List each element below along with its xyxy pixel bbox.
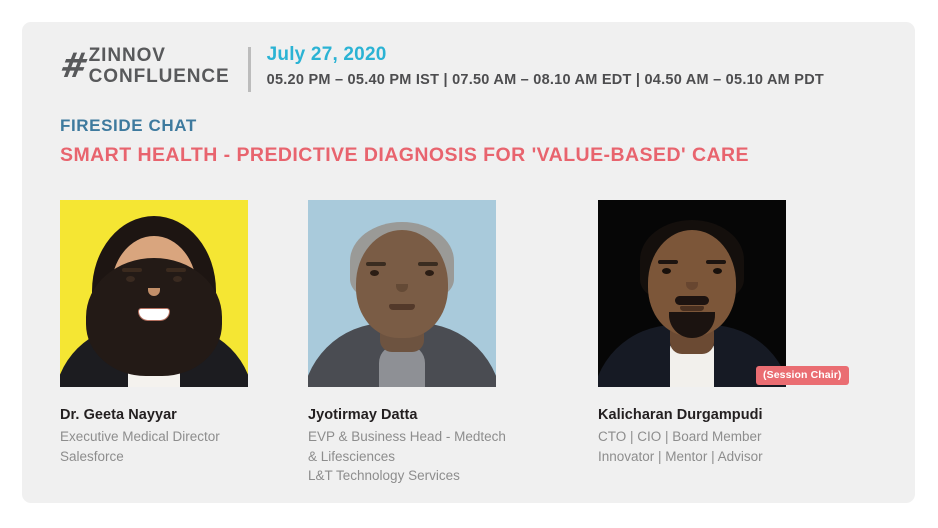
speaker-details: Executive Medical Director Salesforce (60, 427, 248, 466)
page-title: SMART HEALTH - PREDICTIVE DIAGNOSIS FOR … (60, 144, 749, 167)
eye-right (713, 268, 722, 274)
speaker-detail-line: & Lifesciences (308, 447, 538, 467)
speaker-name: Jyotirmay Datta (308, 407, 538, 423)
eyebrow-right (706, 260, 726, 264)
header-divider (248, 47, 251, 92)
eyebrow-left (122, 268, 142, 272)
speaker-detail-line: CTO | CIO | Board Member (598, 427, 828, 447)
speaker-card-1: Dr. Geeta Nayyar Executive Medical Direc… (60, 200, 248, 486)
speaker-detail-line: Innovator | Mentor | Advisor (598, 447, 828, 467)
logo-line-2: CONFLUENCE (89, 67, 230, 86)
mouth-shape (138, 308, 170, 321)
mouth-shape (680, 306, 704, 311)
speaker-detail-line: Executive Medical Director (60, 427, 248, 447)
speakers-row: Dr. Geeta Nayyar Executive Medical Direc… (60, 200, 860, 486)
logo-line-1: ZINNOV (89, 46, 230, 65)
speaker-detail-line: Salesforce (60, 447, 248, 467)
eyebrow-left (366, 262, 386, 266)
speaker-photo-1 (60, 200, 248, 387)
speaker-card-2: Jyotirmay Datta EVP & Business Head - Me… (308, 200, 538, 486)
event-times: 05.20 PM – 05.40 PM IST | 07.50 AM – 08.… (267, 72, 824, 88)
eye-left (370, 270, 379, 276)
speaker-name: Dr. Geeta Nayyar (60, 407, 248, 423)
status-badge: (Session Chair) (756, 366, 849, 385)
session-kicker: FIRESIDE CHAT (60, 116, 749, 136)
eye-left (662, 268, 671, 274)
title-block: FIRESIDE CHAT SMART HEALTH - PREDICTIVE … (60, 116, 749, 167)
eyebrow-right (418, 262, 438, 266)
moustache-shape (675, 296, 709, 305)
eye-right (425, 270, 434, 276)
hash-icon: # (58, 49, 84, 83)
event-card: # ZINNOV CONFLUENCE July 27, 2020 05.20 … (22, 22, 915, 503)
zinnov-confluence-logo: # ZINNOV CONFLUENCE (60, 44, 230, 86)
speaker-photo-2 (308, 200, 496, 387)
speaker-detail-line: EVP & Business Head - Medtech (308, 427, 538, 447)
eye-right (173, 276, 182, 282)
speaker-photo-3 (598, 200, 786, 387)
header-schedule: July 27, 2020 05.20 PM – 05.40 PM IST | … (267, 44, 824, 88)
eyebrow-right (166, 268, 186, 272)
event-date: July 27, 2020 (267, 45, 824, 66)
header: # ZINNOV CONFLUENCE July 27, 2020 05.20 … (60, 44, 824, 92)
speaker-details: CTO | CIO | Board Member Innovator | Men… (598, 427, 828, 466)
speaker-details: EVP & Business Head - Medtech & Lifescie… (308, 427, 538, 486)
eye-left (126, 276, 135, 282)
logo-wordmark: ZINNOV CONFLUENCE (89, 46, 230, 86)
eyebrow-left (658, 260, 678, 264)
speaker-card-3: (Session Chair) Kalicharan Durgampudi CT… (598, 200, 828, 486)
speaker-detail-line: L&T Technology Services (308, 466, 538, 486)
mouth-shape (389, 304, 415, 310)
speaker-name: Kalicharan Durgampudi (598, 407, 828, 423)
